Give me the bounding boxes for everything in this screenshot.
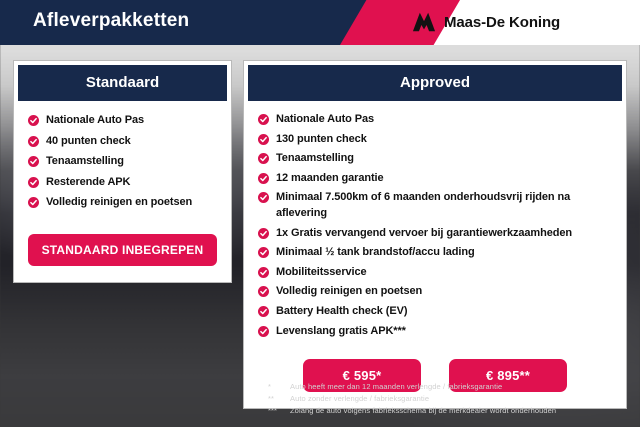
- feature-label: Levenslang gratis APK***: [276, 324, 406, 340]
- feature-label: Nationale Auto Pas: [276, 112, 374, 128]
- check-circle-icon: [28, 115, 39, 126]
- feature-label: 130 punten check: [276, 132, 367, 148]
- list-item: 1x Gratis vervangend vervoer bij garanti…: [258, 226, 612, 242]
- list-item: Levenslang gratis APK***: [258, 324, 612, 340]
- maas-de-koning-m-logo-icon: [412, 11, 436, 33]
- approved-package-card: Approved Nationale Auto Pas 130 punten c…: [243, 60, 627, 409]
- list-item: Volledig reinigen en poetsen: [258, 284, 612, 300]
- standaard-feature-list: Nationale Auto Pas 40 punten check Tenaa…: [28, 101, 217, 222]
- footnote-text: Auto zonder verlengde / fabrieksgarantie: [290, 393, 628, 405]
- list-item: Mobiliteitsservice: [258, 265, 612, 281]
- check-circle-icon: [258, 134, 269, 145]
- list-item: Minimaal ½ tank brandstof/accu lading: [258, 245, 612, 261]
- feature-label: Tenaamstelling: [46, 154, 124, 170]
- approved-card-title: Approved: [248, 65, 622, 101]
- list-item: Tenaamstelling: [28, 154, 217, 170]
- footnote-marker: ***: [268, 405, 290, 417]
- list-item: Minimaal 7.500km of 6 maanden onderhouds…: [258, 190, 612, 221]
- list-item: Nationale Auto Pas: [28, 113, 217, 129]
- feature-label: Nationale Auto Pas: [46, 113, 144, 129]
- list-item: Tenaamstelling: [258, 151, 612, 167]
- check-circle-icon: [258, 267, 269, 278]
- check-circle-icon: [28, 197, 39, 208]
- footnote-triple-asterisk: *** Zolang de auto volgens fabrieksschem…: [268, 405, 628, 417]
- brand-lockup: Maas-De Koning: [412, 11, 560, 33]
- feature-label: Volledig reinigen en poetsen: [276, 284, 422, 300]
- feature-label: Resterende APK: [46, 175, 130, 191]
- check-circle-icon: [258, 247, 269, 258]
- promo-screen: Afleverpakketten Maas-De Koning Standaar…: [0, 0, 640, 427]
- brand-name: Maas-De Koning: [444, 14, 560, 31]
- footnote-single-asterisk: * Auto heeft meer dan 12 maanden verleng…: [268, 381, 628, 393]
- feature-label: 40 punten check: [46, 134, 131, 150]
- footnote-text: Zolang de auto volgens fabrieksschema bi…: [290, 405, 628, 417]
- list-item: Volledig reinigen en poetsen: [28, 195, 217, 211]
- approved-feature-list: Nationale Auto Pas 130 punten check Tena…: [258, 101, 612, 349]
- check-circle-icon: [258, 286, 269, 297]
- feature-label: Minimaal ½ tank brandstof/accu lading: [276, 245, 475, 261]
- brand-header: Afleverpakketten Maas-De Koning: [0, 0, 640, 45]
- page-title: Afleverpakketten: [33, 10, 189, 32]
- check-circle-icon: [28, 177, 39, 188]
- check-circle-icon: [258, 153, 269, 164]
- footnote-text: Auto heeft meer dan 12 maanden verlengde…: [290, 381, 628, 393]
- feature-label: 1x Gratis vervangend vervoer bij garanti…: [276, 226, 572, 242]
- list-item: Nationale Auto Pas: [258, 112, 612, 128]
- check-circle-icon: [258, 173, 269, 184]
- check-circle-icon: [258, 114, 269, 125]
- standaard-inbegrepen-button[interactable]: STANDAARD INBEGREPEN: [28, 234, 217, 266]
- check-circle-icon: [258, 228, 269, 239]
- check-circle-icon: [258, 306, 269, 317]
- footnote-double-asterisk: ** Auto zonder verlengde / fabrieksgaran…: [268, 393, 628, 405]
- feature-label: Mobiliteitsservice: [276, 265, 367, 281]
- list-item: Resterende APK: [28, 175, 217, 191]
- feature-label: Tenaamstelling: [276, 151, 354, 167]
- list-item: 40 punten check: [28, 134, 217, 150]
- check-circle-icon: [258, 326, 269, 337]
- feature-label: Minimaal 7.500km of 6 maanden onderhouds…: [276, 190, 612, 221]
- standaard-package-card: Standaard Nationale Auto Pas 40 punten c…: [13, 60, 232, 283]
- check-circle-icon: [28, 156, 39, 167]
- list-item: 12 maanden garantie: [258, 171, 612, 187]
- check-circle-icon: [28, 136, 39, 147]
- list-item: 130 punten check: [258, 132, 612, 148]
- list-item: Battery Health check (EV): [258, 304, 612, 320]
- footnote-marker: *: [268, 381, 290, 393]
- feature-label: Battery Health check (EV): [276, 304, 407, 320]
- feature-label: Volledig reinigen en poetsen: [46, 195, 192, 211]
- check-circle-icon: [258, 192, 269, 203]
- standaard-card-title: Standaard: [18, 65, 227, 101]
- feature-label: 12 maanden garantie: [276, 171, 384, 187]
- footnotes-block: * Auto heeft meer dan 12 maanden verleng…: [268, 381, 628, 417]
- footnote-marker: **: [268, 393, 290, 405]
